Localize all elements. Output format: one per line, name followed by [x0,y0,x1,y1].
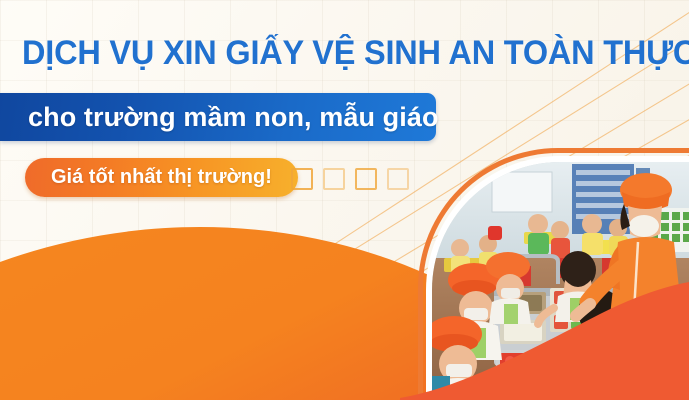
banner-subheadline-text: cho trường mầm non, mẫu giáo [0,102,439,133]
banner-subheadline-ribbon: cho trường mầm non, mẫu giáo [0,93,436,141]
promo-banner: DỊCH VỤ XIN GIẤY VỆ SINH AN TOÀN THỰC PH… [0,0,689,400]
banner-headline: DỊCH VỤ XIN GIẤY VỆ SINH AN TOÀN THỰC PH… [22,33,638,73]
bottom-right-sweep-decoration [400,280,689,400]
